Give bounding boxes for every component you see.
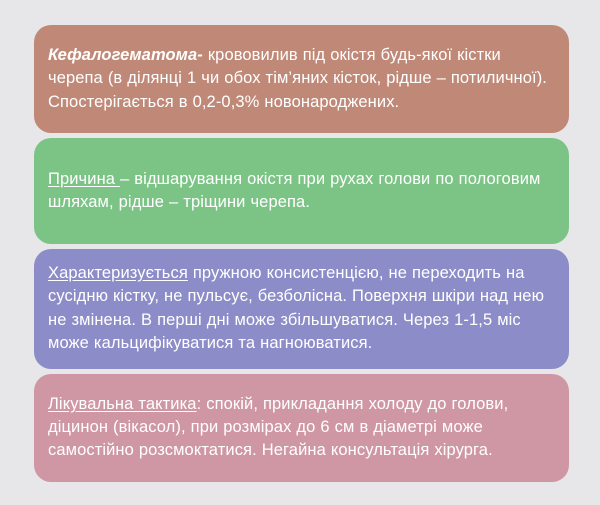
info-card-cause: Причина – відшарування окістя при рухах … (34, 138, 569, 244)
info-card-definition-text: Кефалогематома- крововилив під окістя бу… (48, 44, 555, 114)
slide-canvas: Кефалогематома- крововилив під окістя бу… (0, 0, 600, 505)
info-card-list: Кефалогематома- крововилив під окістя бу… (34, 25, 569, 482)
info-card-cause-text: Причина – відшарування окістя при рухах … (48, 168, 555, 215)
info-card-cause-lead: Причина (48, 170, 120, 188)
info-card-definition-lead: Кефалогематома- (48, 46, 203, 64)
info-card-characteristics-text: Характеризується пружною консистенцією, … (48, 262, 555, 356)
info-card-treatment: Лікувальна тактика: спокій, прикладання … (34, 374, 569, 482)
info-card-cause-body: – відшарування окістя при рухах голови п… (48, 170, 540, 211)
info-card-treatment-text: Лікувальна тактика: спокій, прикладання … (48, 393, 555, 463)
info-card-treatment-lead: Лікувальна тактика (48, 395, 197, 413)
info-card-characteristics-lead: Характеризується (48, 264, 188, 282)
info-card-definition: Кефалогематома- крововилив під окістя бу… (34, 25, 569, 133)
info-card-characteristics: Характеризується пружною консистенцією, … (34, 249, 569, 369)
